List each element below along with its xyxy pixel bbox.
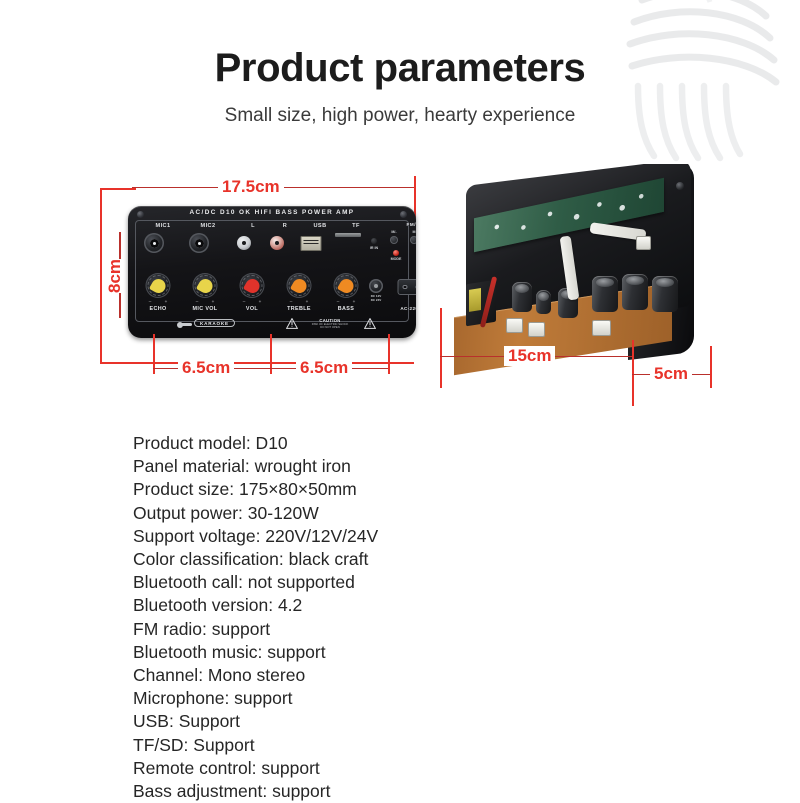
spec-item: Output power: 30-120W — [133, 502, 553, 525]
treble-knob-label: TREBLE — [287, 306, 311, 312]
ir-receiver — [371, 238, 377, 244]
karaoke-logo: KARAOKE — [194, 319, 235, 327]
dim-tick-seg-right — [388, 334, 390, 374]
spec-item: Remote control: support — [133, 757, 553, 780]
echo-minus: – — [149, 299, 152, 304]
spec-item: Product model: D10 — [133, 432, 553, 455]
echo-knob-label: ECHO — [150, 306, 167, 312]
dim-label-height: 5cm — [650, 364, 692, 384]
vol-minus: – — [243, 299, 246, 304]
spec-item: Color classification: black craft — [133, 548, 553, 571]
warning-triangle-icon-right — [364, 318, 376, 329]
dim-label-height: 8cm — [105, 259, 125, 293]
ac-socket-label: AC-220V — [400, 306, 416, 311]
micvol-plus: + — [212, 299, 215, 304]
fm-prev-label: M/- — [391, 230, 396, 234]
connector-2 — [528, 322, 545, 337]
capacitor-6 — [652, 276, 678, 312]
rca-left-jack[interactable] — [237, 236, 251, 250]
connector-4 — [636, 236, 651, 250]
mic-vol-knob[interactable] — [193, 273, 218, 298]
treble-minus: – — [290, 299, 293, 304]
capacitor-1 — [512, 282, 532, 312]
vol-plus: + — [259, 299, 262, 304]
echo-knob-cap — [148, 276, 167, 295]
fm-mode-button[interactable] — [410, 236, 416, 244]
dim-line-bottom — [100, 362, 414, 364]
jack-label-row: MIC1 MIC2 L R USB TF — [137, 223, 407, 231]
treble-knob-cap — [289, 276, 308, 295]
treble-plus: + — [306, 299, 309, 304]
capacitor-2 — [536, 290, 551, 314]
fm-prev-button[interactable] — [390, 236, 398, 244]
spec-item: Product size: 175×80×50mm — [133, 478, 553, 501]
bass-knob[interactable] — [334, 273, 359, 298]
tf-card-slot[interactable] — [335, 233, 361, 237]
mic1-jack[interactable] — [144, 233, 164, 253]
vol-knob-label: VOL — [246, 306, 258, 312]
treble-knob[interactable] — [287, 273, 312, 298]
vol-knob-cap — [242, 276, 261, 295]
rca-right-jack[interactable] — [270, 236, 284, 250]
mic-vol-knob-label: MIC VOL — [193, 306, 218, 312]
dim-line-left-vertical — [100, 188, 102, 364]
connector-3 — [592, 320, 611, 336]
connector-row: IR IN FM/T M/- M +/M MODE LIGHT OFF ON — [128, 232, 416, 266]
ir-in-label: IR IN — [370, 246, 378, 250]
dim-line-top-left — [100, 188, 136, 190]
mic2-jack[interactable] — [189, 233, 209, 253]
bass-plus: + — [353, 299, 356, 304]
interior-photo-figure: 15cm 5cm — [432, 160, 732, 405]
jack-label-mic2: MIC2 — [201, 223, 216, 229]
amplifier-front-panel: AC/DC D10 OK HIFI BASS POWER AMP MIC1 MI… — [128, 206, 416, 338]
jack-label-usb: USB — [313, 223, 326, 229]
spec-item: Microphone: support — [133, 687, 553, 710]
dim-tick-height-right — [710, 346, 712, 388]
page-subtitle: Small size, high power, hearty experienc… — [0, 105, 800, 127]
spec-item: USB: Support — [133, 710, 553, 733]
connector-1 — [506, 318, 523, 333]
usb-port[interactable] — [301, 236, 322, 251]
bass-minus: – — [337, 299, 340, 304]
jack-label-l: L — [251, 223, 255, 229]
capacitor-4 — [592, 276, 618, 312]
jack-label-mic1: MIC1 — [156, 223, 171, 229]
spec-item: Bluetooth music: support — [133, 641, 553, 664]
page-title: Product parameters — [0, 46, 800, 91]
spec-item: FM radio: support — [133, 618, 553, 641]
front-panel-figure: 17.5cm 8cm AC/DC D10 OK HIFI BASS POWER … — [92, 176, 422, 396]
specification-list: Product model: D10 Panel material: wroug… — [133, 432, 553, 803]
spec-item: Bluetooth version: 4.2 — [133, 594, 553, 617]
dim-label-width: 17.5cm — [218, 177, 284, 197]
micvol-minus: – — [196, 299, 199, 304]
dc-voltage-label: DC 12VDC 24V — [371, 295, 382, 302]
fm-label: FM/T — [406, 222, 416, 227]
echo-knob[interactable] — [146, 273, 171, 298]
vol-knob[interactable] — [240, 273, 265, 298]
bass-knob-cap — [336, 276, 355, 295]
spec-item: TF/SD: Support — [133, 734, 553, 757]
dim-label-depth: 15cm — [504, 346, 555, 366]
mic-vol-knob-cap — [195, 276, 214, 295]
caution-line-2: DO NOT OPEN — [302, 326, 358, 329]
ac-power-socket[interactable] — [398, 279, 417, 295]
jack-label-r: R — [283, 223, 287, 229]
spec-item: Channel: Mono stereo — [133, 664, 553, 687]
dim-label-segment-right: 6.5cm — [296, 358, 352, 378]
chassis-screw-hole — [676, 182, 684, 190]
jack-label-tf: TF — [352, 223, 360, 229]
bass-knob-label: BASS — [338, 306, 354, 312]
dim-tick-depth-left — [440, 308, 442, 388]
caution-block: CAUTION RISK OF ELECTRIC SHOCK DO NOT OP… — [302, 318, 358, 330]
spec-item: Bluetooth call: not supported — [133, 571, 553, 594]
spec-item: Panel material: wrought iron — [133, 455, 553, 478]
mode-led — [393, 250, 399, 256]
capacitor-5 — [622, 274, 648, 310]
spec-item: Support voltage: 220V/12V/24V — [133, 525, 553, 548]
mode-label: MODE — [391, 257, 402, 261]
amplifier-interior-photo — [440, 164, 712, 376]
dc-power-jack[interactable] — [369, 279, 383, 293]
dim-label-segment-left: 6.5cm — [178, 358, 234, 378]
warning-triangle-icon-left — [286, 318, 298, 329]
dim-tick-depth-right — [632, 340, 634, 406]
echo-plus: + — [165, 299, 168, 304]
panel-top-label-row: AC/DC D10 OK HIFI BASS POWER AMP — [128, 209, 416, 216]
fm-mode-label: M — [413, 230, 416, 234]
microphone-icon — [180, 323, 192, 326]
